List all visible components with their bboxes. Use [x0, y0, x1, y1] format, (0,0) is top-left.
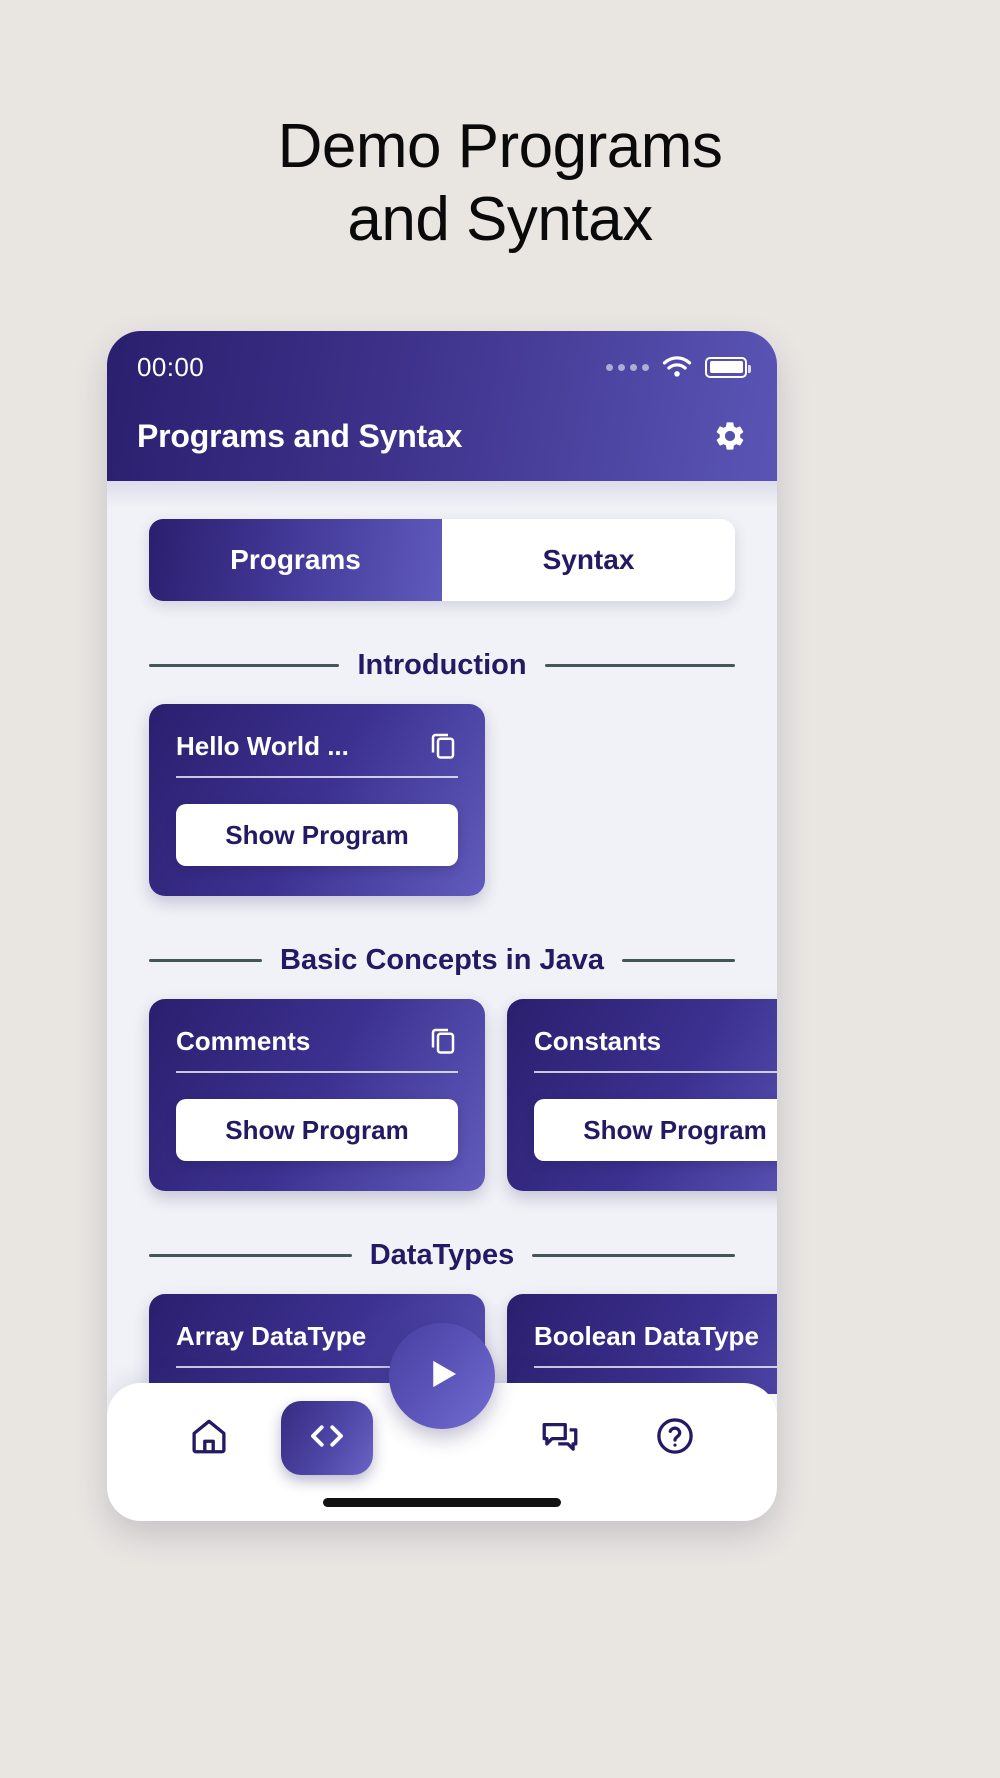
wifi-icon [662, 356, 692, 378]
show-program-button[interactable]: Show Program [176, 804, 458, 866]
program-card[interactable]: Hello World ... Show Program [149, 704, 485, 896]
play-fab-button[interactable] [389, 1323, 495, 1429]
card-title: Comments [176, 1026, 310, 1057]
card-header: Constants [534, 1025, 777, 1073]
card-row-introduction: Hello World ... Show Program [149, 704, 735, 896]
card-title: Hello World ... [176, 731, 349, 762]
show-program-button[interactable]: Show Program [534, 1099, 777, 1161]
home-indicator [323, 1498, 561, 1507]
status-bar: 00:00 [137, 331, 747, 403]
section-header-introduction: Introduction [149, 649, 735, 682]
program-card[interactable]: Constants Show Program [507, 999, 777, 1191]
page-title-line-2: and Syntax [0, 183, 1000, 256]
card-header: Hello World ... [176, 730, 458, 778]
status-icons [606, 356, 747, 378]
nav-item-help[interactable] [618, 1415, 734, 1462]
tab-bar: Programs Syntax [149, 519, 735, 601]
nav-item-code[interactable] [281, 1401, 373, 1475]
app-bar: 00:00 Programs and Sy [107, 331, 777, 481]
signal-dots-icon [606, 364, 649, 371]
show-program-button[interactable]: Show Program [176, 1099, 458, 1161]
screenshot-root: Demo Programs and Syntax 00:00 [0, 0, 1000, 1778]
copy-icon[interactable] [428, 730, 458, 762]
code-icon [306, 1415, 348, 1462]
app-bar-row: Programs and Syntax [137, 403, 747, 469]
app-bar-title: Programs and Syntax [137, 418, 462, 455]
nav-item-home[interactable] [151, 1415, 267, 1462]
section-rule-right [545, 664, 735, 667]
section-label: Introduction [357, 649, 526, 682]
tab-syntax[interactable]: Syntax [442, 519, 735, 601]
section-rule-left [149, 1254, 352, 1257]
section-label: DataTypes [370, 1239, 515, 1272]
page-title-line-1: Demo Programs [278, 112, 723, 181]
card-title: Boolean DataType [534, 1321, 759, 1352]
page-title: Demo Programs and Syntax [0, 110, 1000, 256]
help-circle-icon [654, 1415, 696, 1462]
card-title: Constants [534, 1026, 661, 1057]
section-rule-left [149, 959, 262, 962]
status-time: 00:00 [137, 352, 204, 383]
section-rule-right [622, 959, 735, 962]
home-icon [188, 1415, 230, 1462]
card-row-basic-concepts: Comments Show Program Constants [149, 999, 735, 1191]
tab-programs[interactable]: Programs [149, 519, 442, 601]
card-title: Array DataType [176, 1321, 366, 1352]
section-header-datatypes: DataTypes [149, 1239, 735, 1272]
card-header: Comments [176, 1025, 458, 1073]
play-icon [421, 1353, 463, 1400]
section-rule-right [532, 1254, 735, 1257]
section-rule-left [149, 664, 339, 667]
card-header: Boolean DataType [534, 1320, 777, 1368]
copy-icon[interactable] [428, 1025, 458, 1057]
body-top-shadow [107, 481, 777, 507]
chat-icon [539, 1415, 581, 1462]
section-label: Basic Concepts in Java [280, 944, 604, 977]
section-header-basic-concepts: Basic Concepts in Java [149, 944, 735, 977]
gear-icon[interactable] [713, 419, 747, 453]
phone-mockup: 00:00 Programs and Sy [107, 331, 777, 1521]
nav-item-chat[interactable] [502, 1415, 618, 1462]
battery-full-icon [705, 357, 747, 378]
program-card[interactable]: Comments Show Program [149, 999, 485, 1191]
